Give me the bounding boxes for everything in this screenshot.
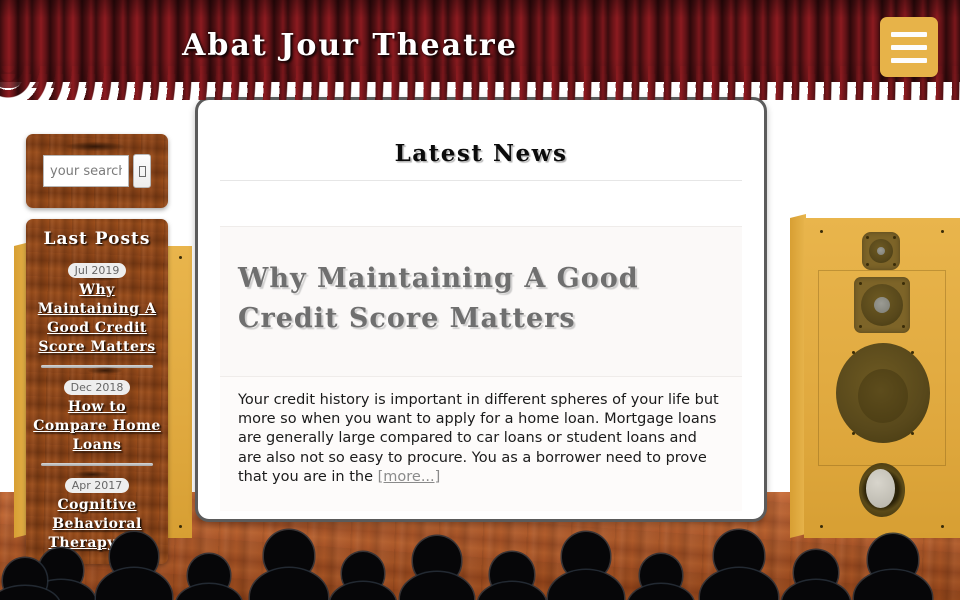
divider (220, 180, 742, 181)
post-link[interactable]: How to Compare Home Loans (33, 398, 161, 455)
read-more-link[interactable]: [more...] (378, 469, 441, 485)
divider (41, 463, 153, 466)
article-header: Why Maintaining A Good Credit Score Matt… (220, 226, 742, 377)
search-widget (26, 134, 168, 208)
curtain-scallop-front (0, 74, 960, 100)
post-link[interactable]: Why Maintaining A Good Credit Score Matt… (33, 281, 161, 357)
hamburger-bar (891, 58, 927, 63)
page-title: Latest News (198, 140, 764, 167)
search-submit-button[interactable] (133, 154, 151, 188)
speaker-front-panel (804, 218, 960, 538)
article-excerpt: Your credit history is important in diff… (220, 377, 742, 511)
post-date: Jul 2019 (68, 263, 127, 278)
last-posts-heading: Last Posts (33, 229, 161, 249)
last-posts-widget: Last Posts Jul 2019 Why Maintaining A Go… (26, 219, 168, 564)
list-item: Dec 2018 How to Compare Home Loans (33, 376, 161, 455)
list-item: Apr 2017 Cognitive Behavioral Therapy fo… (33, 474, 161, 553)
speaker-right (790, 218, 960, 538)
theatre-stage: Last Posts Jul 2019 Why Maintaining A Go… (0, 0, 960, 600)
article-title[interactable]: Why Maintaining A Good Credit Score Matt… (238, 259, 724, 339)
list-item: Jul 2019 Why Maintaining A Good Credit S… (33, 259, 161, 357)
sidebar: Last Posts Jul 2019 Why Maintaining A Go… (26, 134, 168, 564)
speaker-tweeter (862, 232, 900, 270)
hamburger-bar (891, 45, 927, 50)
post-link[interactable]: Cognitive Behavioral Therapy for (33, 496, 161, 553)
post-date: Dec 2018 (64, 380, 131, 395)
divider (41, 365, 153, 368)
speaker-bass-port (859, 463, 905, 517)
search-input[interactable] (43, 155, 129, 187)
post-date: Apr 2017 (65, 478, 130, 493)
article-excerpt-text: Your credit history is important in diff… (238, 392, 719, 485)
hamburger-bar (891, 32, 927, 37)
missing-glyph-icon (139, 166, 146, 177)
speaker-woofer (836, 343, 930, 443)
site-title: Abat Jour Theatre (0, 28, 700, 63)
speaker-midrange (854, 277, 910, 333)
hamburger-menu-icon[interactable] (880, 17, 938, 77)
article: Why Maintaining A Good Credit Score Matt… (220, 226, 742, 522)
main-content-panel: Latest News Why Maintaining A Good Credi… (195, 97, 767, 522)
